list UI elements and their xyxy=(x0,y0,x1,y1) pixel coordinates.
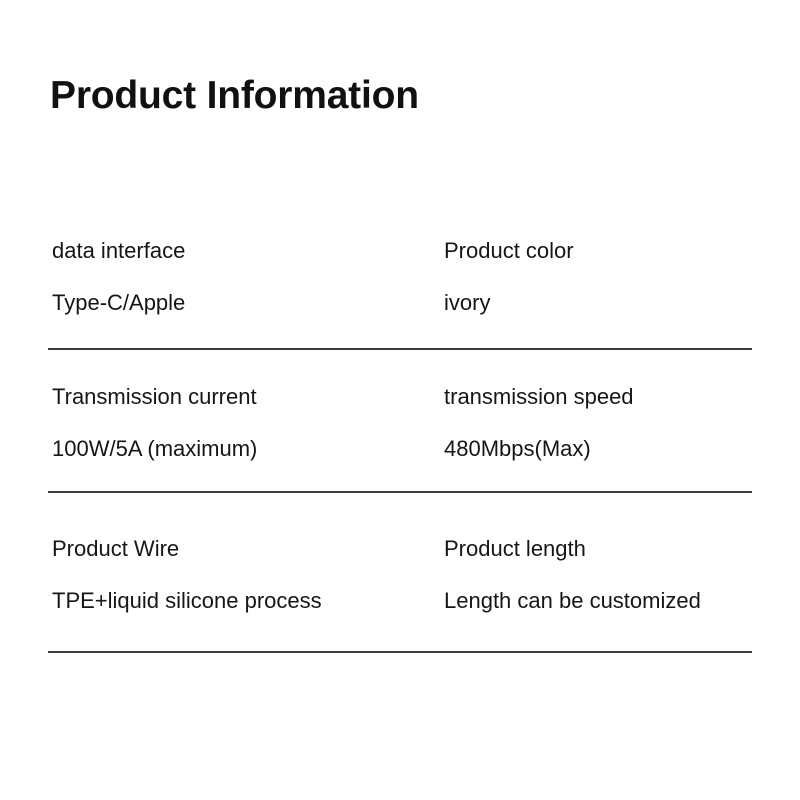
spec-value: Type-C/Apple xyxy=(52,292,185,314)
spec-value: ivory xyxy=(444,292,574,314)
spec-label: transmission speed xyxy=(444,386,634,408)
spec-value: 100W/5A (maximum) xyxy=(52,438,257,460)
product-information-page: Product Information data interface Type-… xyxy=(0,0,800,800)
spec-cell-transmission-current: Transmission current 100W/5A (maximum) xyxy=(52,386,257,460)
spec-label: Product Wire xyxy=(52,538,322,560)
spec-label: Product length xyxy=(444,538,701,560)
spec-cell-product-color: Product color ivory xyxy=(444,240,574,314)
spec-cell-product-length: Product length Length can be customized xyxy=(444,538,701,612)
row-divider xyxy=(48,491,752,493)
spec-value: Length can be customized xyxy=(444,590,701,612)
spec-cell-transmission-speed: transmission speed 480Mbps(Max) xyxy=(444,386,634,460)
spec-label: data interface xyxy=(52,240,185,262)
spec-cell-data-interface: data interface Type-C/Apple xyxy=(52,240,185,314)
spec-label: Product color xyxy=(444,240,574,262)
spec-value: 480Mbps(Max) xyxy=(444,438,634,460)
row-divider xyxy=(48,651,752,653)
spec-cell-product-wire: Product Wire TPE+liquid silicone process xyxy=(52,538,322,612)
page-title: Product Information xyxy=(50,74,419,119)
spec-value: TPE+liquid silicone process xyxy=(52,590,322,612)
row-divider xyxy=(48,348,752,350)
spec-label: Transmission current xyxy=(52,386,257,408)
